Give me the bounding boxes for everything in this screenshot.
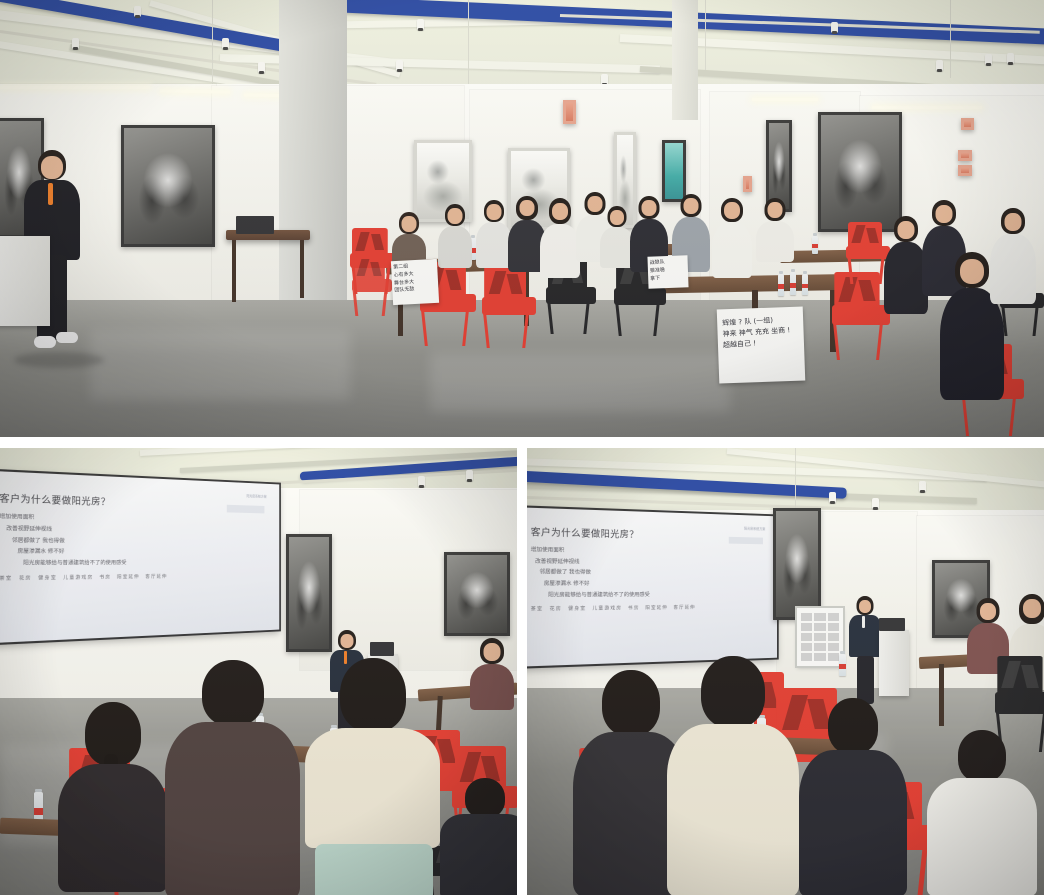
red-chair	[352, 256, 392, 316]
artwork-abstract-dark	[121, 125, 215, 247]
artwork-red-small	[563, 100, 576, 124]
track-light-icon	[134, 6, 141, 17]
track-light-icon	[936, 60, 943, 71]
water-bottle	[778, 274, 784, 296]
structural-column	[279, 0, 347, 305]
shadow	[14, 352, 104, 368]
table-leg	[232, 240, 236, 302]
hanging-rod	[795, 448, 796, 508]
attendee-back-view	[58, 702, 168, 892]
floor-reflection	[430, 352, 730, 412]
attendee-back-view	[305, 658, 440, 895]
wall-strip-light	[752, 98, 818, 101]
artwork-red-small	[743, 176, 752, 192]
panel-bottom-left-audience: 客户为什么要做阳光房？ 增加使用面积 改善视野延伸视线 邻居都做了 我也得做 房…	[0, 448, 517, 895]
table-leg	[300, 240, 304, 298]
hanging-rod	[468, 0, 469, 86]
podium	[879, 630, 909, 696]
microphone	[862, 616, 865, 628]
laptop	[879, 618, 905, 631]
wall-strip-light	[872, 106, 982, 109]
slide-bullet: 房屋渗漏水 修不好	[0, 547, 267, 559]
water-bottle	[802, 274, 808, 295]
red-chair	[482, 266, 536, 348]
hanging-rod	[705, 0, 706, 70]
attendee	[438, 204, 472, 268]
whiteboard	[797, 608, 843, 666]
artwork-red-small	[958, 150, 972, 161]
projection-screen: 客户为什么要做阳光房？ 增加使用面积 改善视野延伸视线 邻居都做了 我也得做 房…	[527, 507, 777, 667]
slide-watermark: 阳光房系统方案	[247, 493, 267, 498]
attendee	[540, 198, 580, 278]
wall-strip-light	[0, 86, 150, 89]
track-light-icon	[985, 54, 992, 65]
attendee-back-view	[927, 730, 1037, 895]
microphone	[48, 183, 53, 205]
attendee-back-view	[667, 656, 799, 895]
panel-bottom-right-presenter: 客户为什么要做阳光房？ 增加使用面积 改善视野延伸视线 邻居都做了 我也得做 房…	[527, 448, 1044, 895]
attendee-back-view	[440, 778, 517, 895]
track-light-icon	[831, 22, 838, 33]
track-light-icon	[258, 62, 265, 73]
slide-bullet: 阳光房能够给与普通建筑给不了的使用感受	[531, 590, 766, 602]
laptop	[370, 642, 394, 656]
slide-footer-tags: 茶室 花房 健身室 儿童游戏房 书房 阳室延伸 客厅延伸	[0, 573, 267, 582]
track-light-icon	[872, 498, 879, 509]
attendee	[600, 206, 634, 268]
attendee	[470, 638, 514, 710]
artwork-red-small	[958, 165, 972, 176]
artwork-abstract-dark	[286, 534, 332, 652]
attendee-back-view	[165, 660, 300, 895]
slide-accent-chip	[729, 536, 763, 544]
track-light-icon	[72, 38, 79, 49]
panel-top-gallery-room: 第二组 心有多大 舞台多大 团队无敌 战狼队 狠准稳 拿下 辉煌 ? 队 (一组…	[0, 0, 1044, 437]
reception-counter	[0, 236, 50, 326]
artwork-abstract-large	[818, 112, 902, 232]
hanging-rod	[950, 0, 951, 78]
presenter-bottom-right	[849, 596, 881, 704]
track-light-icon	[396, 60, 403, 71]
water-bottle	[790, 272, 796, 295]
track-light-icon	[466, 470, 473, 481]
track-light-icon	[222, 38, 229, 49]
artwork-teal	[662, 140, 686, 202]
slide-footer-tags: 茶室 花房 健身室 儿童游戏房 书房 阳室延伸 客厅延伸	[531, 604, 766, 612]
water-bottle	[812, 236, 818, 254]
slide-watermark: 阳光房系统方案	[744, 525, 765, 530]
track-light-icon	[919, 481, 926, 492]
table-sign-left: 第二组 心有多大 舞台多大 团队无敌	[391, 259, 439, 305]
attendee	[712, 198, 752, 278]
track-light-icon	[1007, 53, 1014, 64]
attendee-back-view	[799, 698, 907, 895]
slide-bullet: 房屋渗漏水 修不好	[531, 579, 766, 590]
track-light-icon	[418, 476, 425, 487]
floor-reflection	[90, 330, 350, 400]
slide-bullet: 阳光房能够给与普通建筑给不了的使用感受	[0, 558, 267, 570]
whiteboard-notes-grid	[801, 613, 840, 662]
slide-bullet: 邻居都做了 我也得做	[531, 567, 766, 579]
projection-screen: 客户为什么要做阳光房？ 增加使用面积 改善视野延伸视线 邻居都做了 我也得做 房…	[0, 470, 279, 643]
artwork-abstract-dark	[444, 552, 510, 636]
track-light-icon	[829, 492, 836, 503]
artwork-red-small	[961, 118, 974, 130]
table-leg	[939, 664, 944, 726]
equipment-box	[236, 216, 274, 234]
slide-accent-chip	[227, 504, 264, 513]
table-sign-right: 辉煌 ? 队 (一组) 神来 神气 充充 坐商 ! 超越自己 !	[717, 307, 806, 384]
structural-column	[672, 0, 698, 120]
attendee	[476, 200, 512, 268]
photo-collage: 第二组 心有多大 舞台多大 团队无敌 战狼队 狠准稳 拿下 辉煌 ? 队 (一组…	[0, 0, 1044, 895]
attendee	[990, 208, 1036, 304]
track-light-icon	[417, 19, 424, 30]
artwork-abstract-dark	[773, 508, 821, 620]
attendee	[756, 198, 794, 262]
hanging-rod	[212, 0, 213, 92]
water-bottle	[839, 654, 846, 676]
table-sign-center: 战狼队 狠准稳 拿下	[647, 255, 688, 288]
red-chair	[832, 272, 890, 360]
